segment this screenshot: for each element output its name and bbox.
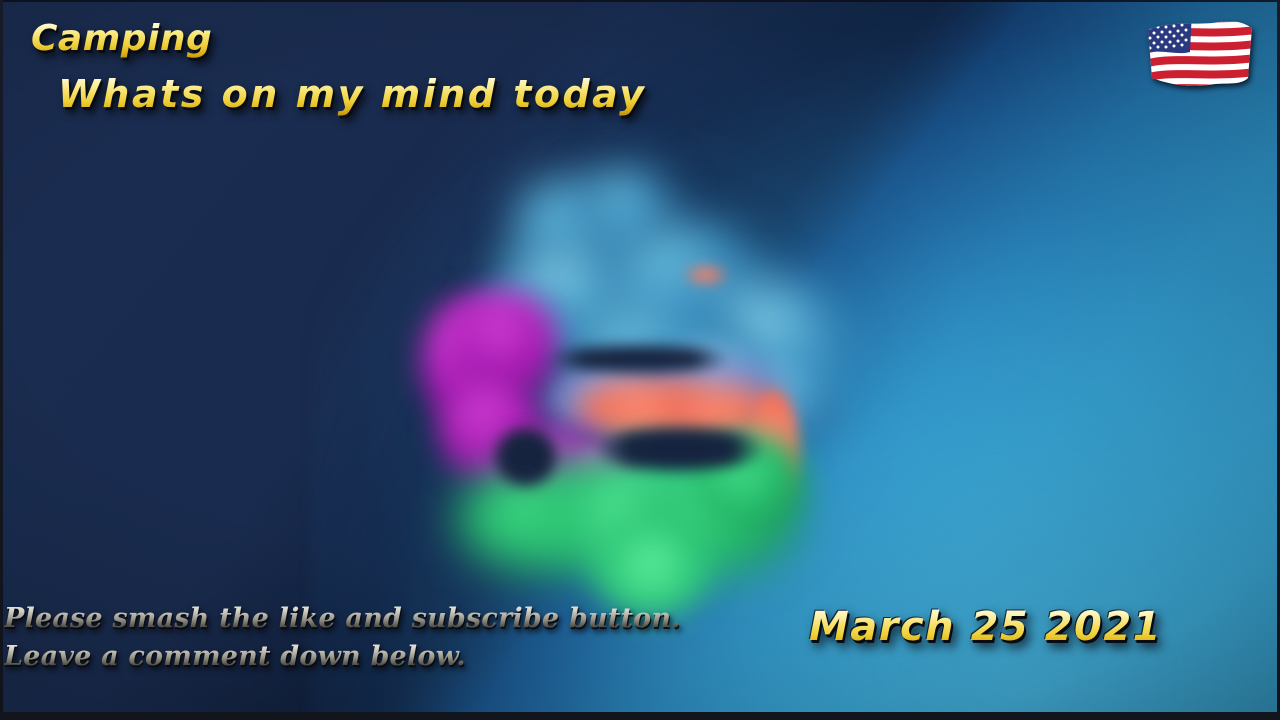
- cta-line-2: Leave a comment down below.: [4, 638, 681, 676]
- page-title-line-1: Camping: [31, 18, 212, 59]
- page-title-line-2: Whats on my mind today: [58, 72, 646, 116]
- frame-edge-left: [0, 0, 3, 720]
- us-flag-icon: [1144, 16, 1256, 92]
- frame-edge-top: [0, 0, 1280, 2]
- cta-line-1: Please smash the like and subscribe butt…: [4, 600, 681, 638]
- artwork-outline-stroke: [545, 346, 731, 372]
- title-card-canvas: Camping Whats on my mind today March 25 …: [0, 0, 1280, 720]
- artwork-outline-stroke: [495, 428, 557, 486]
- call-to-action-block: Please smash the like and subscribe butt…: [4, 600, 681, 676]
- artwork-outline-stroke: [595, 428, 765, 470]
- frame-edge-bottom: [0, 712, 1280, 720]
- artwork-blob-coral: [687, 268, 727, 282]
- abstract-swirl-artwork: [395, 160, 865, 620]
- date-stamp: March 25 2021: [809, 604, 1162, 650]
